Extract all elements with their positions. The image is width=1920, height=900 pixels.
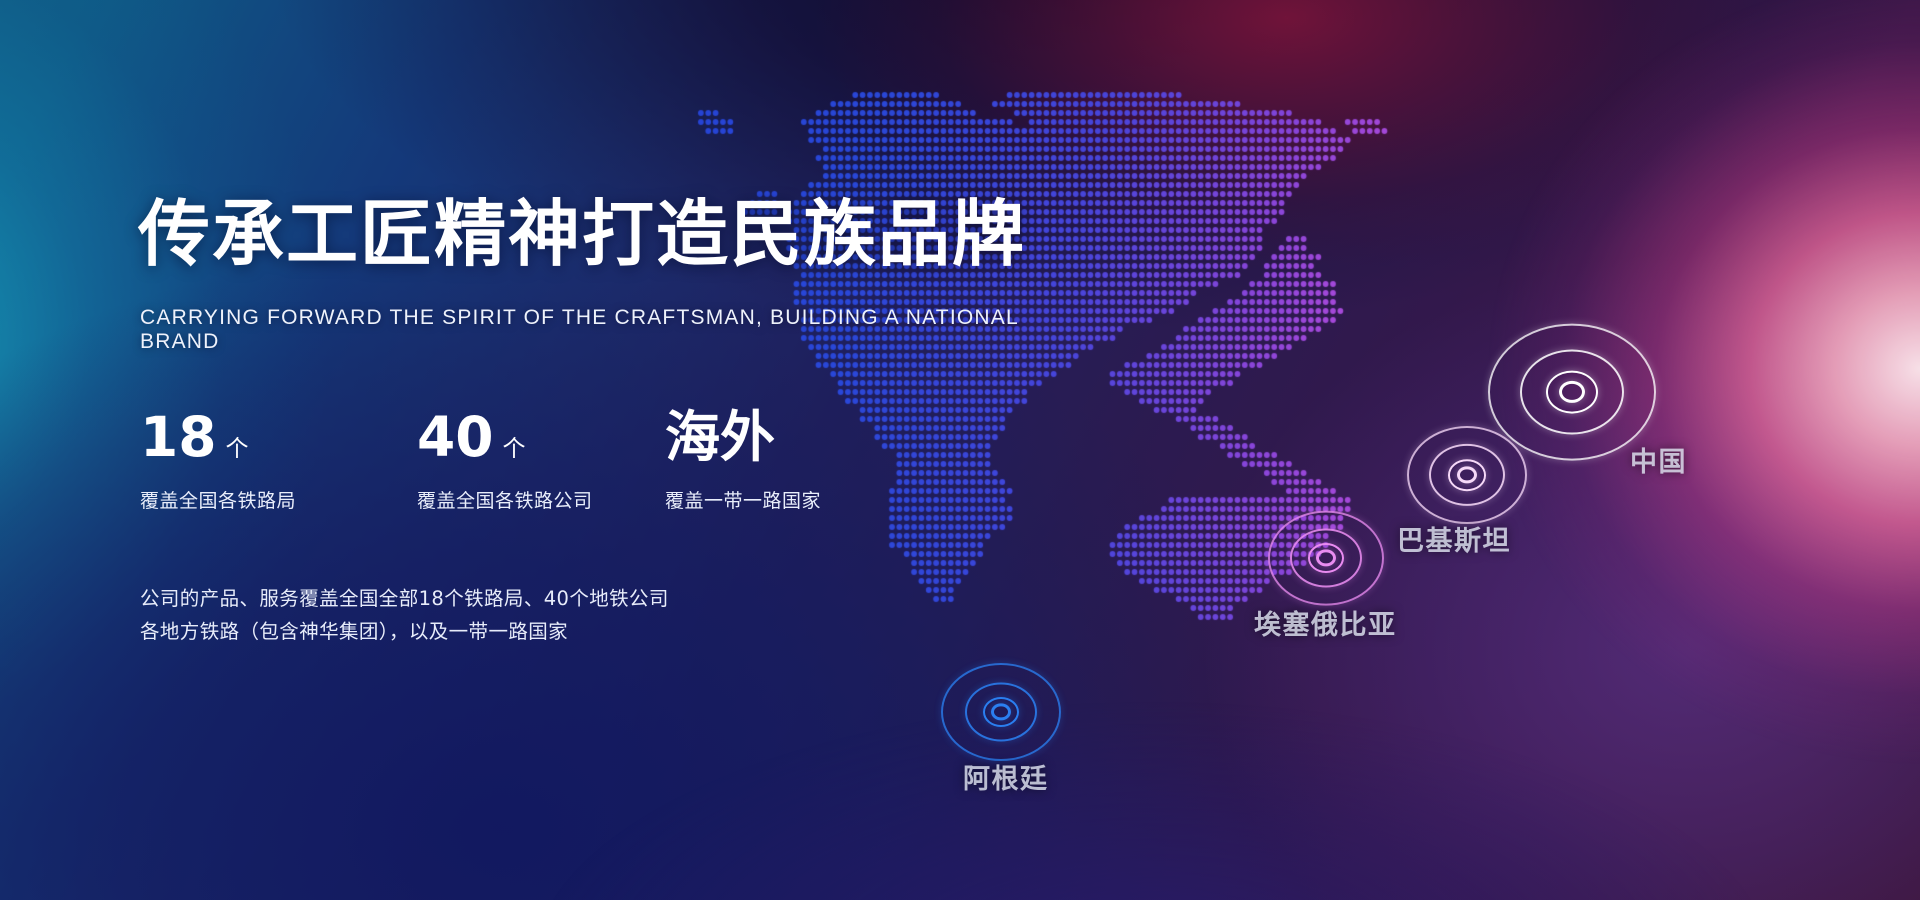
stat-item: 18个覆盖全国各铁路局 [140, 410, 417, 513]
stat-value: 海外 [665, 410, 775, 465]
stat-value: 40 [417, 410, 494, 465]
stats-row: 18个覆盖全国各铁路局40个覆盖全国各铁路公司海外覆盖一带一路国家 [140, 410, 821, 513]
stat-unit: 个 [503, 438, 526, 461]
stat-unit: 个 [226, 438, 249, 461]
hero-content: 传承工匠精神打造民族品牌 CARRYING FORWARD THE SPIRIT… [138, 0, 1038, 900]
stat-description: 覆盖一带一路国家 [665, 486, 821, 513]
page-subtitle: CARRYING FORWARD THE SPIRIT OF THE CRAFT… [140, 306, 1038, 354]
marker-ring [1559, 381, 1585, 403]
map-marker-china[interactable] [1571, 391, 1573, 393]
stat-value-row: 海外 [665, 410, 821, 472]
map-marker-pakistan[interactable] [1466, 474, 1468, 476]
stat-value-row: 18个 [140, 410, 417, 472]
stat-item: 海外覆盖一带一路国家 [665, 410, 821, 513]
description-paragraph: 公司的产品、服务覆盖全国全部18个铁路局、40个地铁公司各地方铁路（包含神华集团… [140, 582, 669, 648]
stat-value: 18 [140, 410, 217, 465]
stat-value-row: 40个 [417, 410, 665, 472]
page-title: 传承工匠精神打造民族品牌 [138, 198, 1026, 270]
stat-description: 覆盖全国各铁路公司 [417, 486, 665, 513]
hero-banner: 中国巴基斯坦埃塞俄比亚阿根廷 传承工匠精神打造民族品牌 CARRYING FOR… [0, 0, 1920, 900]
description-line: 各地方铁路（包含神华集团），以及一带一路国家 [140, 615, 669, 648]
map-marker-label-pakistan: 巴基斯坦 [1397, 519, 1511, 558]
description-line: 公司的产品、服务覆盖全国全部18个铁路局、40个地铁公司 [140, 582, 669, 615]
map-marker-ethiopia[interactable] [1325, 557, 1327, 559]
stat-item: 40个覆盖全国各铁路公司 [417, 410, 665, 513]
stat-description: 覆盖全国各铁路局 [140, 486, 417, 513]
map-marker-label-china: 中国 [1630, 440, 1687, 479]
map-marker-label-ethiopia: 埃塞俄比亚 [1254, 603, 1397, 642]
